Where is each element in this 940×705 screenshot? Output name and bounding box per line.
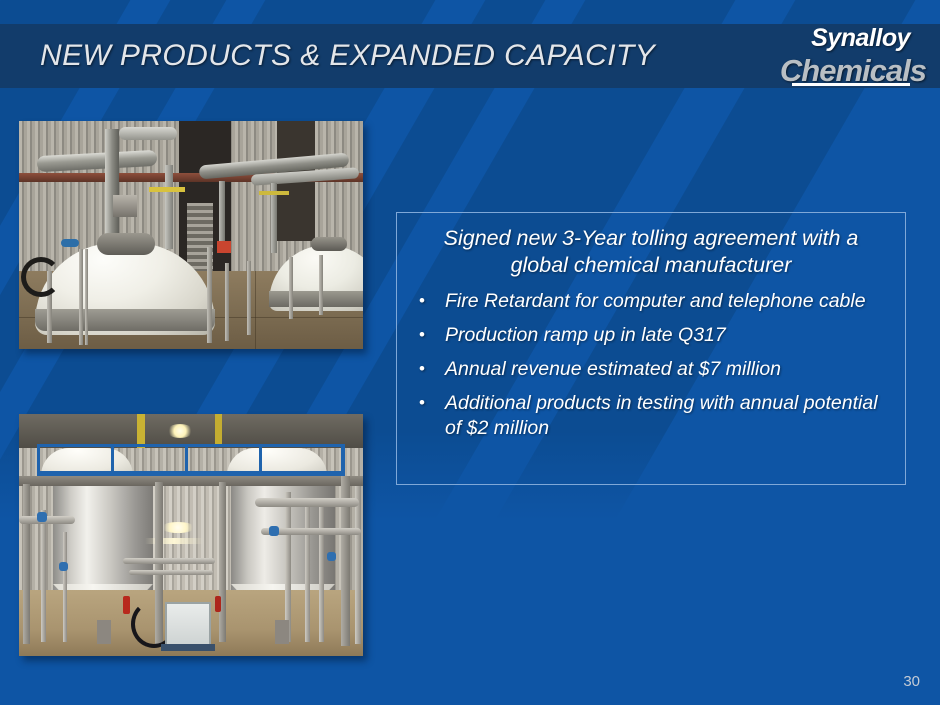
- bullet-text: Annual revenue estimated at $7 million: [445, 357, 891, 382]
- presentation-slide: NEW PRODUCTS & EXPANDED CAPACITY Synallo…: [0, 0, 940, 705]
- synalloy-chemicals-logo: Synalloy Chemicals: [734, 26, 926, 84]
- bullet-marker-icon: •: [411, 289, 445, 314]
- bullet-list: • Fire Retardant for computer and teleph…: [411, 289, 891, 441]
- bullet-text: Production ramp up in late Q317: [445, 323, 891, 348]
- content-headline: Signed new 3-Year tolling agreement with…: [411, 225, 891, 279]
- bullet-marker-icon: •: [411, 357, 445, 382]
- bullet-marker-icon: •: [411, 323, 445, 348]
- slide-number: 30: [903, 673, 920, 690]
- slide-title: NEW PRODUCTS & EXPANDED CAPACITY: [40, 39, 655, 73]
- list-item: • Fire Retardant for computer and teleph…: [411, 289, 891, 314]
- content-text-box: Signed new 3-Year tolling agreement with…: [396, 212, 906, 485]
- logo-underline-rule: [792, 83, 910, 86]
- photo-storage-tanks: [19, 414, 363, 656]
- bullet-text: Fire Retardant for computer and telephon…: [445, 289, 891, 314]
- list-item: • Additional products in testing with an…: [411, 391, 891, 441]
- photo-reactor-vessels: [19, 121, 363, 349]
- list-item: • Annual revenue estimated at $7 million: [411, 357, 891, 382]
- bullet-text: Additional products in testing with annu…: [445, 391, 891, 441]
- bullet-marker-icon: •: [411, 391, 445, 441]
- logo-line-synalloy: Synalloy: [734, 26, 926, 51]
- logo-line-chemicals: Chemicals: [734, 55, 926, 86]
- list-item: • Production ramp up in late Q317: [411, 323, 891, 348]
